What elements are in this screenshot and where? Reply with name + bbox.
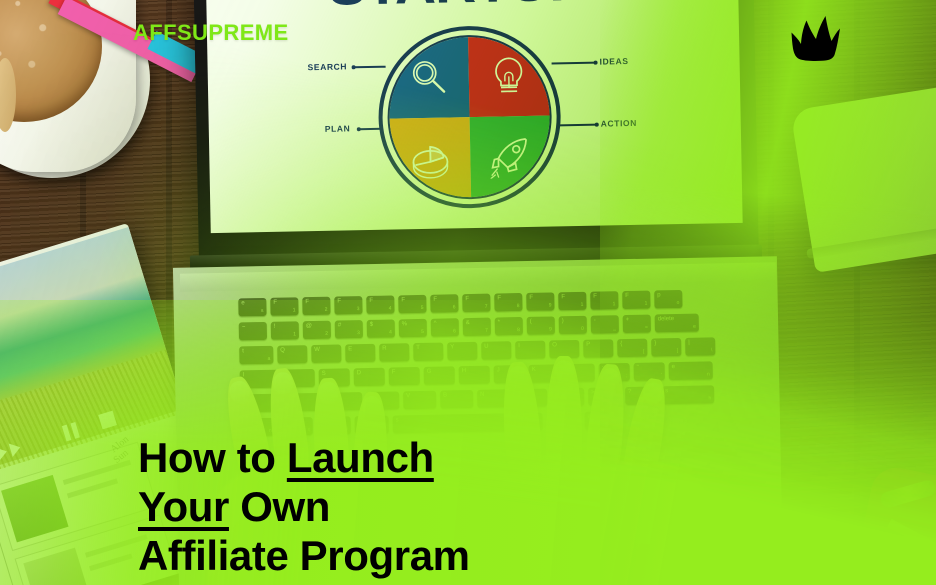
keyboard-key[interactable]: F3 — [334, 296, 362, 315]
keyboard-key-label: % — [402, 321, 407, 327]
keyboard-key[interactable]: po — [654, 290, 682, 309]
keyboard-key[interactable]: F1 — [270, 297, 298, 316]
keyboard-key[interactable]: B — [440, 390, 473, 409]
keyboard-key-alt-glyph: ] — [677, 348, 679, 354]
keyboard-key-alt-glyph: _ — [613, 325, 616, 331]
headline-line-1: How to Launch — [138, 433, 470, 482]
right-hand-palm — [486, 462, 716, 585]
keyboard-key[interactable]: en — [669, 361, 713, 380]
diagram-dot-search — [352, 65, 356, 69]
diagram-label-search: SEARCH — [308, 61, 348, 72]
keyboard-key-label: J — [497, 367, 500, 373]
keyboard-key-label: S — [322, 371, 326, 377]
headline-line2-underlined: Your — [138, 483, 229, 530]
keyboard-key[interactable]: F1 — [622, 291, 650, 310]
keyboard-key[interactable]: F8 — [494, 293, 522, 312]
keyboard-key-alt-glyph: 1 — [581, 302, 584, 308]
keyboard-key[interactable]: -_ — [591, 315, 619, 334]
keyboard-key-label: Q — [280, 348, 285, 354]
keyboard-key[interactable]: T — [413, 343, 443, 362]
diagram-dot-plan — [357, 127, 361, 131]
keyboard-key-label: F — [273, 300, 277, 306]
promo-banner: Alon Sun Size hite - Single on STARTUP S… — [0, 0, 936, 585]
keyboard-key-label: ) — [562, 318, 564, 324]
keyboard-key-alt-glyph: n — [707, 371, 710, 377]
keyboard-key-label: | — [688, 340, 690, 346]
keyboard-key-label: H — [462, 368, 466, 374]
keyboard-key-alt-glyph: 5 — [421, 305, 424, 311]
crown-icon — [786, 14, 844, 62]
keyboard-key[interactable]: H — [459, 366, 490, 385]
keyboard-key[interactable]: += — [623, 315, 651, 334]
keyboard-key[interactable]: Y — [447, 342, 477, 361]
keyboard-key-label: K — [532, 367, 536, 373]
headline-line-3: Affiliate Program — [138, 531, 470, 580]
keyboard-key-label: - — [594, 318, 596, 324]
keyboard-key[interactable]: P — [583, 339, 613, 358]
keyboard-key-label: Y — [450, 344, 454, 350]
keyboard-key-alt-glyph: 6 — [453, 304, 456, 310]
keyboard-top-row: taQWERTYUIOP{[}]|\ — [239, 337, 715, 364]
headline-line1-underlined: Launch — [287, 434, 434, 481]
keyboard-key-label: W — [314, 347, 320, 353]
keyboard-key[interactable]: &7 — [463, 318, 491, 337]
keyboard-key-label: # — [338, 322, 341, 328]
keyboard-key-alt-glyph: 4 — [389, 306, 392, 312]
keyboard-key-alt-glyph: 9 — [549, 326, 552, 332]
diagram-quadrants — [386, 34, 553, 201]
keyboard-key[interactable]: $4 — [367, 319, 395, 338]
tablet-track-thumbnail — [23, 548, 90, 585]
keyboard-key[interactable]: F1 — [558, 292, 586, 311]
keyboard-key-label: T — [416, 345, 420, 351]
screen-title-startup: STARTUP — [327, 0, 586, 19]
keyboard-key[interactable]: sh — [662, 385, 714, 404]
keyboard-key[interactable]: D — [354, 368, 385, 387]
fingernail — [642, 381, 665, 406]
keyboard-key-alt-glyph: \ — [711, 347, 713, 353]
keyboard-key-label: + — [626, 317, 630, 323]
keyboard-key-alt-glyph: 1 — [293, 307, 296, 313]
keyboard-key[interactable]: U — [481, 341, 511, 360]
keyboard-key-alt-glyph: 2 — [325, 307, 328, 313]
keyboard-key-label: p — [657, 292, 660, 298]
keyboard-key[interactable]: F5 — [398, 295, 426, 314]
headline-line2-plain: Own — [229, 483, 330, 530]
keyboard-key[interactable]: R — [379, 343, 409, 362]
keyboard-key-label: F — [561, 294, 565, 300]
keyboard-key[interactable]: (9 — [527, 316, 555, 335]
keyboard-key-label: E — [348, 346, 352, 352]
keyboard-key-label: e — [672, 364, 675, 370]
keyboard-key-alt-glyph: [ — [643, 349, 645, 355]
keyboard-key-alt-glyph: 2 — [325, 331, 328, 337]
keyboard-key[interactable]: ~ — [239, 322, 267, 341]
keyboard-key-label: e — [241, 300, 244, 306]
headline-line1-plain: How to — [138, 434, 287, 481]
keyboard-key[interactable]: {[ — [617, 339, 647, 358]
keyboard-key[interactable]: F7 — [462, 294, 490, 313]
keyboard-key-alt-glyph: 1 — [293, 331, 296, 337]
keyboard-key[interactable]: I — [515, 341, 545, 360]
diagram-label-ideas: IDEAS — [599, 56, 628, 67]
keyboard-key-alt-glyph: 3 — [357, 330, 360, 336]
keyboard-key[interactable]: E — [345, 344, 375, 363]
keyboard-key-alt-glyph: 8 — [517, 327, 520, 333]
keyboard-key[interactable]: deletee — [655, 314, 699, 333]
keyboard-key-label: $ — [370, 322, 373, 328]
keyboard-key-alt-glyph: 4 — [389, 330, 392, 336]
keyboard-key-alt-glyph: s — [261, 308, 264, 314]
keyboard-key-label: * — [498, 319, 500, 325]
keyboard-key-alt-glyph: ; — [625, 373, 627, 379]
diagram-dot-ideas — [594, 60, 598, 64]
keyboard-key[interactable]: %5 — [399, 319, 427, 338]
keyboard-key-alt-glyph: 1 — [645, 301, 648, 307]
tablet-track-thumbnail — [1, 475, 68, 542]
keyboard-key-alt-glyph: o — [677, 300, 680, 306]
keyboard-key-label: G — [427, 369, 432, 375]
keyboard-key[interactable]: ta — [239, 346, 273, 365]
keyboard-key-alt-glyph: e — [693, 324, 696, 330]
keyboard-number-row: ~!1@2#3$4%5^6&7*8(9)0-_+=deletee — [239, 314, 699, 341]
diagram-dot-action — [595, 122, 599, 126]
keyboard-key[interactable]: @2 — [303, 321, 331, 340]
keyboard-key-label: P — [586, 342, 590, 348]
quadrant-plan — [390, 117, 472, 199]
fingernail — [318, 382, 338, 405]
keyboard-key-label: " — [637, 365, 639, 371]
quadrant-ideas — [468, 36, 550, 118]
keyboard-key-label: F — [593, 294, 597, 300]
keyboard-key-label: F — [497, 295, 501, 301]
keyboard-key-alt-glyph: 6 — [453, 328, 456, 334]
keyboard-key-label: F — [625, 293, 629, 299]
keyboard-key[interactable]: F4 — [366, 295, 394, 314]
page-title: How to Launch Your Own Affiliate Program — [138, 433, 470, 580]
keyboard-key[interactable]: F1 — [590, 291, 618, 310]
keyboard-key-alt-glyph: h — [708, 395, 711, 401]
keyboard-key[interactable]: *8 — [495, 317, 523, 336]
keyboard-key-label: F — [433, 297, 437, 303]
brand-logo-affsupreme[interactable]: AFFSUPREME — [133, 20, 289, 46]
keyboard-key[interactable]: G — [424, 366, 455, 385]
fingernail — [554, 360, 574, 382]
keyboard-key-alt-glyph: a — [268, 356, 271, 362]
keyboard-key[interactable]: F2 — [302, 297, 330, 316]
keyboard-key[interactable]: }] — [651, 338, 681, 357]
keyboard-key-label: s — [665, 388, 668, 394]
keyboard-key[interactable]: F — [389, 367, 420, 386]
keyboard-key-label: V — [406, 393, 410, 399]
fingernail — [362, 396, 381, 419]
keyboard-key[interactable]: ^6 — [431, 318, 459, 337]
keyboard-key-label: & — [466, 320, 470, 326]
tablet-track-line — [89, 553, 133, 571]
keyboard-key[interactable]: Q — [277, 345, 307, 364]
keyboard-key-label: F — [529, 295, 533, 301]
keyboard-key-label: D — [357, 370, 361, 376]
keyboard-key[interactable]: W — [311, 344, 341, 363]
keyboard-key-alt-glyph: 8 — [517, 303, 520, 309]
keyboard-key[interactable]: V — [403, 391, 436, 410]
keyboard-key-label: R — [382, 346, 386, 352]
keyboard-key[interactable]: F6 — [430, 294, 458, 313]
keyboard-key-label: F — [337, 298, 341, 304]
keyboard-key-label: { — [620, 341, 622, 347]
keyboard-key-label: F — [401, 297, 405, 303]
keyboard-key-alt-glyph: 1 — [613, 301, 616, 307]
startup-quadrant-diagram — [377, 24, 562, 209]
keyboard-key-label: F — [465, 296, 469, 302]
fingernail — [508, 365, 530, 388]
fingernail — [599, 367, 620, 391]
keyboard-key-label: I — [518, 343, 520, 349]
keyboard-key-label: ^ — [434, 321, 437, 327]
keyboard-key-label: s — [396, 417, 399, 423]
keyboard-key-alt-glyph: = — [645, 325, 648, 331]
fingernail — [228, 379, 251, 404]
keyboard-key-label: ( — [530, 319, 532, 325]
keyboard-key[interactable]: F9 — [526, 292, 554, 311]
keyboard-key-alt-glyph: 3 — [357, 306, 360, 312]
headline-line-2: Your Own — [138, 482, 470, 531]
quadrant-action — [470, 116, 552, 198]
diagram-label-plan: PLAN — [325, 123, 351, 133]
keyboard-key-label: ! — [274, 324, 276, 330]
keyboard-key[interactable]: !1 — [271, 321, 299, 340]
keyboard-key-label: delete — [658, 316, 674, 322]
fingernail — [272, 371, 294, 395]
keyboard-key-alt-glyph: 7 — [485, 304, 488, 310]
keyboard-key-alt-glyph: 0 — [581, 326, 584, 332]
keyboard-key-alt-glyph: ' — [661, 372, 662, 378]
keyboard-key-label: N — [480, 392, 484, 398]
keyboard-key-label: ~ — [242, 324, 246, 330]
keyboard-key-label: O — [552, 342, 557, 348]
keyboard-key-label: } — [654, 340, 656, 346]
diagram-label-action: ACTION — [601, 118, 637, 129]
quadrant-search — [388, 37, 470, 119]
keyboard-key-label: t — [242, 348, 244, 354]
keyboard-key-alt-glyph: 9 — [549, 302, 552, 308]
keyboard-home-row: loASDFGHJKL:;"'en — [240, 361, 713, 388]
keyboard-key-label: ? — [628, 389, 631, 395]
keyboard-key[interactable]: |\ — [685, 337, 715, 356]
keyboard-key-alt-glyph: 5 — [421, 329, 424, 335]
keyboard-key-label: F — [392, 369, 396, 375]
keyboard-key-label: @ — [306, 323, 312, 329]
keyboard-key-label: F — [305, 299, 309, 305]
keyboard-key[interactable]: es — [238, 298, 266, 317]
keyboard-key-label: B — [443, 392, 447, 398]
keyboard-key-label: U — [484, 344, 488, 350]
keyboard-key[interactable]: )0 — [559, 316, 587, 335]
keyboard-key-label: F — [369, 298, 373, 304]
keyboard-key-alt-glyph: 7 — [485, 328, 488, 334]
keyboard-key[interactable]: #3 — [335, 320, 363, 339]
